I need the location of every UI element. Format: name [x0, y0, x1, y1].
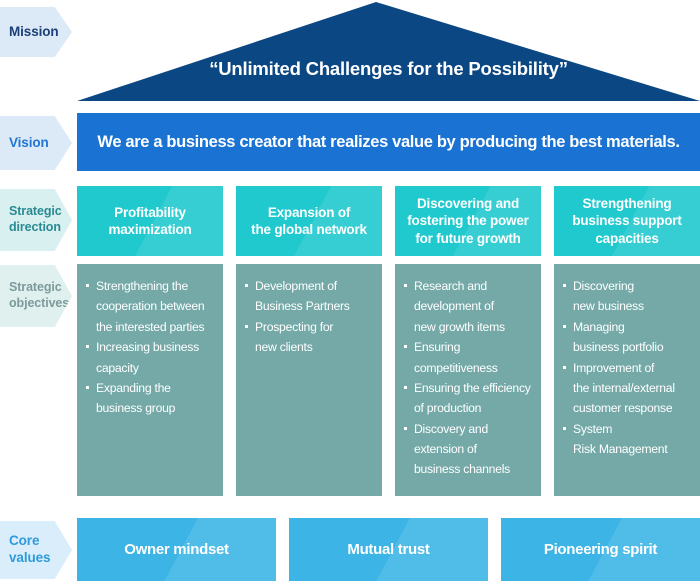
row-label-strategic-direction-line1: Strategic	[9, 204, 62, 220]
strategic-direction-card: Strengthening business support capacitie…	[554, 186, 700, 256]
list-item: Discovering new business	[562, 276, 690, 317]
vision-statement: We are a business creator that realizes …	[97, 133, 679, 152]
strategic-objectives-list: Development of Business Partners Prospec…	[244, 276, 372, 358]
strategic-direction-title: Expansion of the global network	[247, 204, 371, 239]
strategy-pyramid-diagram: Mission “Unlimited Challenges for the Po…	[0, 0, 700, 585]
strategic-objectives-card: Development of Business Partners Prospec…	[236, 264, 382, 496]
strategy-columns: Profitability maximization Strengthening…	[77, 186, 700, 496]
row-label-strategic-objectives-line1: Strategic	[9, 280, 69, 296]
core-value-label: Owner mindset	[124, 541, 228, 558]
row-label-core-values: Core values	[0, 521, 72, 579]
list-item: Expanding the business group	[85, 378, 213, 419]
row-label-strategic-direction: Strategic direction	[0, 189, 72, 251]
strategic-direction-title: Strengthening business support capacitie…	[568, 195, 685, 247]
strategy-column: Discovering and fostering the power for …	[395, 186, 541, 496]
core-value-card: Mutual trust	[289, 518, 488, 581]
row-label-vision: Vision	[0, 116, 72, 170]
strategic-direction-title: Profitability maximization	[104, 204, 195, 239]
strategic-direction-card: Expansion of the global network	[236, 186, 382, 256]
strategic-objectives-card: Research and development of new growth i…	[395, 264, 541, 496]
vision-banner: We are a business creator that realizes …	[77, 113, 700, 171]
row-label-strategic-objectives-line2: objectives	[9, 296, 69, 312]
list-item: Improvement of the internal/external cus…	[562, 358, 690, 419]
core-value-card: Owner mindset	[77, 518, 276, 581]
list-item: Managing business portfolio	[562, 317, 690, 358]
strategy-column: Strengthening business support capacitie…	[554, 186, 700, 496]
strategic-direction-title: Discovering and fostering the power for …	[403, 195, 532, 247]
list-item: Ensuring the efficiency of production	[403, 378, 531, 419]
list-item: Strengthening the cooperation between th…	[85, 276, 213, 337]
strategic-objectives-card: Discovering new business Managing busine…	[554, 264, 700, 496]
list-item: Research and development of new growth i…	[403, 276, 531, 337]
list-item: Ensuring competitiveness	[403, 337, 531, 378]
strategy-column: Expansion of the global network Developm…	[236, 186, 382, 496]
row-label-strategic-direction-line2: direction	[9, 220, 62, 236]
strategy-column: Profitability maximization Strengthening…	[77, 186, 223, 496]
core-value-label: Pioneering spirit	[544, 541, 657, 558]
row-label-core-values-line2: values	[9, 550, 50, 567]
list-item: Discovery and extension of business chan…	[403, 419, 531, 480]
row-label-mission: Mission	[0, 7, 72, 57]
list-item: Increasing business capacity	[85, 337, 213, 378]
row-label-vision-text: Vision	[9, 135, 49, 152]
row-label-core-values-line1: Core	[9, 533, 50, 550]
mission-triangle-shape	[77, 2, 700, 101]
list-item: Development of Business Partners	[244, 276, 372, 317]
strategic-objectives-card: Strengthening the cooperation between th…	[77, 264, 223, 496]
core-value-label: Mutual trust	[347, 541, 429, 558]
core-values-row: Owner mindset Mutual trust Pioneering sp…	[77, 518, 700, 581]
strategic-direction-card: Profitability maximization	[77, 186, 223, 256]
core-value-card: Pioneering spirit	[501, 518, 700, 581]
strategic-objectives-list: Discovering new business Managing busine…	[562, 276, 690, 459]
list-item: System Risk Management	[562, 419, 690, 460]
strategic-direction-card: Discovering and fostering the power for …	[395, 186, 541, 256]
list-item: Prospecting for new clients	[244, 317, 372, 358]
strategic-objectives-list: Research and development of new growth i…	[403, 276, 531, 480]
strategic-objectives-list: Strengthening the cooperation between th…	[85, 276, 213, 419]
mission-statement: “Unlimited Challenges for the Possibilit…	[77, 58, 700, 80]
row-label-mission-text: Mission	[9, 24, 59, 41]
row-label-strategic-objectives: Strategic objectives	[0, 265, 72, 327]
